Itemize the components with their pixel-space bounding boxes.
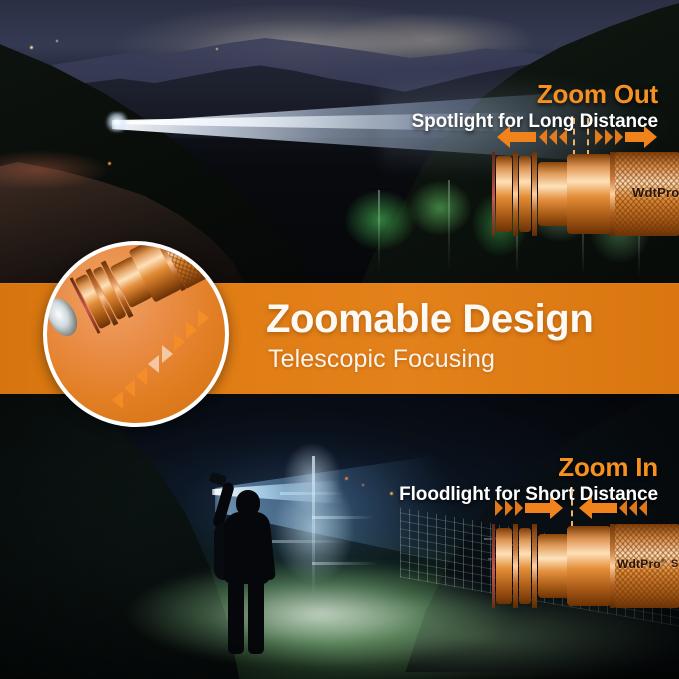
chevron-right-icon xyxy=(162,345,173,363)
flashlight-body xyxy=(567,526,611,607)
arrow-left-shaft xyxy=(591,503,617,513)
zoom-in-arrow-strip xyxy=(495,497,661,519)
zoom-out-arrow-strip xyxy=(497,126,657,148)
chevron-right-icon xyxy=(198,309,209,327)
chevron-left-icon xyxy=(549,129,557,145)
hiker-silhouette xyxy=(196,480,286,656)
zoom-out-title: Zoom Out xyxy=(318,79,658,110)
chevron-left-icon xyxy=(136,367,147,385)
chevron-right-icon xyxy=(174,333,185,351)
page-subtitle: Telescopic Focusing xyxy=(268,345,495,374)
chevron-right-icon xyxy=(505,500,513,516)
flashlight-body xyxy=(567,154,611,235)
chevron-left-icon xyxy=(639,500,647,516)
flashlight-neck xyxy=(496,528,512,604)
arrow-left-icon xyxy=(497,126,510,148)
flashlight-red-ring xyxy=(492,524,495,608)
chevron-left-icon xyxy=(148,355,159,373)
chevron-left-icon xyxy=(112,391,123,409)
flashlight-neck xyxy=(519,156,531,232)
callout-zoom-out: Zoom Out Spotlight for Long Distance xyxy=(318,79,658,133)
zoom-in-title: Zoom In xyxy=(300,452,658,483)
flashlight-light-source xyxy=(104,112,130,132)
page-title: Zoomable Design xyxy=(266,297,593,342)
distant-light-spark xyxy=(30,46,33,49)
product-closeup-inset: WdtPro xyxy=(43,241,229,427)
chevron-left-icon xyxy=(559,129,567,145)
flashlight-ring xyxy=(513,524,518,608)
flashlight-bezel xyxy=(447,524,493,608)
zoom-direction-chevrons xyxy=(89,305,209,405)
distant-light-spark xyxy=(108,162,111,165)
center-dash-line xyxy=(587,118,589,156)
chevron-left-icon xyxy=(124,379,135,397)
chevron-right-icon xyxy=(605,129,613,145)
flashlight-bezel xyxy=(447,152,493,236)
arrow-left-shaft xyxy=(510,132,536,142)
center-dash-line xyxy=(571,489,573,527)
chevron-right-icon xyxy=(615,129,623,145)
brand-text: WdtPro xyxy=(617,557,661,571)
chevron-right-icon xyxy=(515,500,523,516)
chevron-right-icon xyxy=(595,129,603,145)
distant-light-spark xyxy=(216,48,218,50)
flashlight-neck xyxy=(496,156,512,232)
left-leg xyxy=(228,580,244,654)
chevron-left-icon xyxy=(629,500,637,516)
center-dash-line xyxy=(573,118,575,156)
trademark-symbol: ® xyxy=(661,558,666,565)
chevron-right-icon xyxy=(186,321,197,339)
distant-light-spark xyxy=(56,40,58,42)
rock-highlight xyxy=(0,150,110,190)
flashlight-top: WdtPro® xyxy=(447,152,679,236)
arrow-right-shaft xyxy=(625,132,645,142)
flashlight-red-ring xyxy=(492,152,495,236)
flashlight-ring xyxy=(532,152,537,236)
arrow-right-icon xyxy=(550,497,563,519)
brand-text: WdtPro xyxy=(632,185,679,200)
flashlight-neck xyxy=(519,528,531,604)
flashlight-ring xyxy=(532,524,537,608)
chevron-right-icon xyxy=(495,500,503,516)
product-feature-poster: Zoom Out Spotlight for Long Distance Wdt… xyxy=(0,0,679,679)
right-leg xyxy=(248,580,264,654)
flashlight-model-label: S6 xyxy=(671,558,679,570)
flashlight-ring xyxy=(513,152,518,236)
chevron-left-icon xyxy=(539,129,547,145)
chevron-left-icon xyxy=(619,500,627,516)
arrow-right-shaft xyxy=(525,503,551,513)
flashlight-brand-label: WdtPro® xyxy=(632,185,679,200)
arrow-right-icon xyxy=(644,126,657,148)
flashlight-bottom: WdtPro® S6 xyxy=(447,524,679,608)
flashlight-brand-label: WdtPro® xyxy=(617,557,666,571)
